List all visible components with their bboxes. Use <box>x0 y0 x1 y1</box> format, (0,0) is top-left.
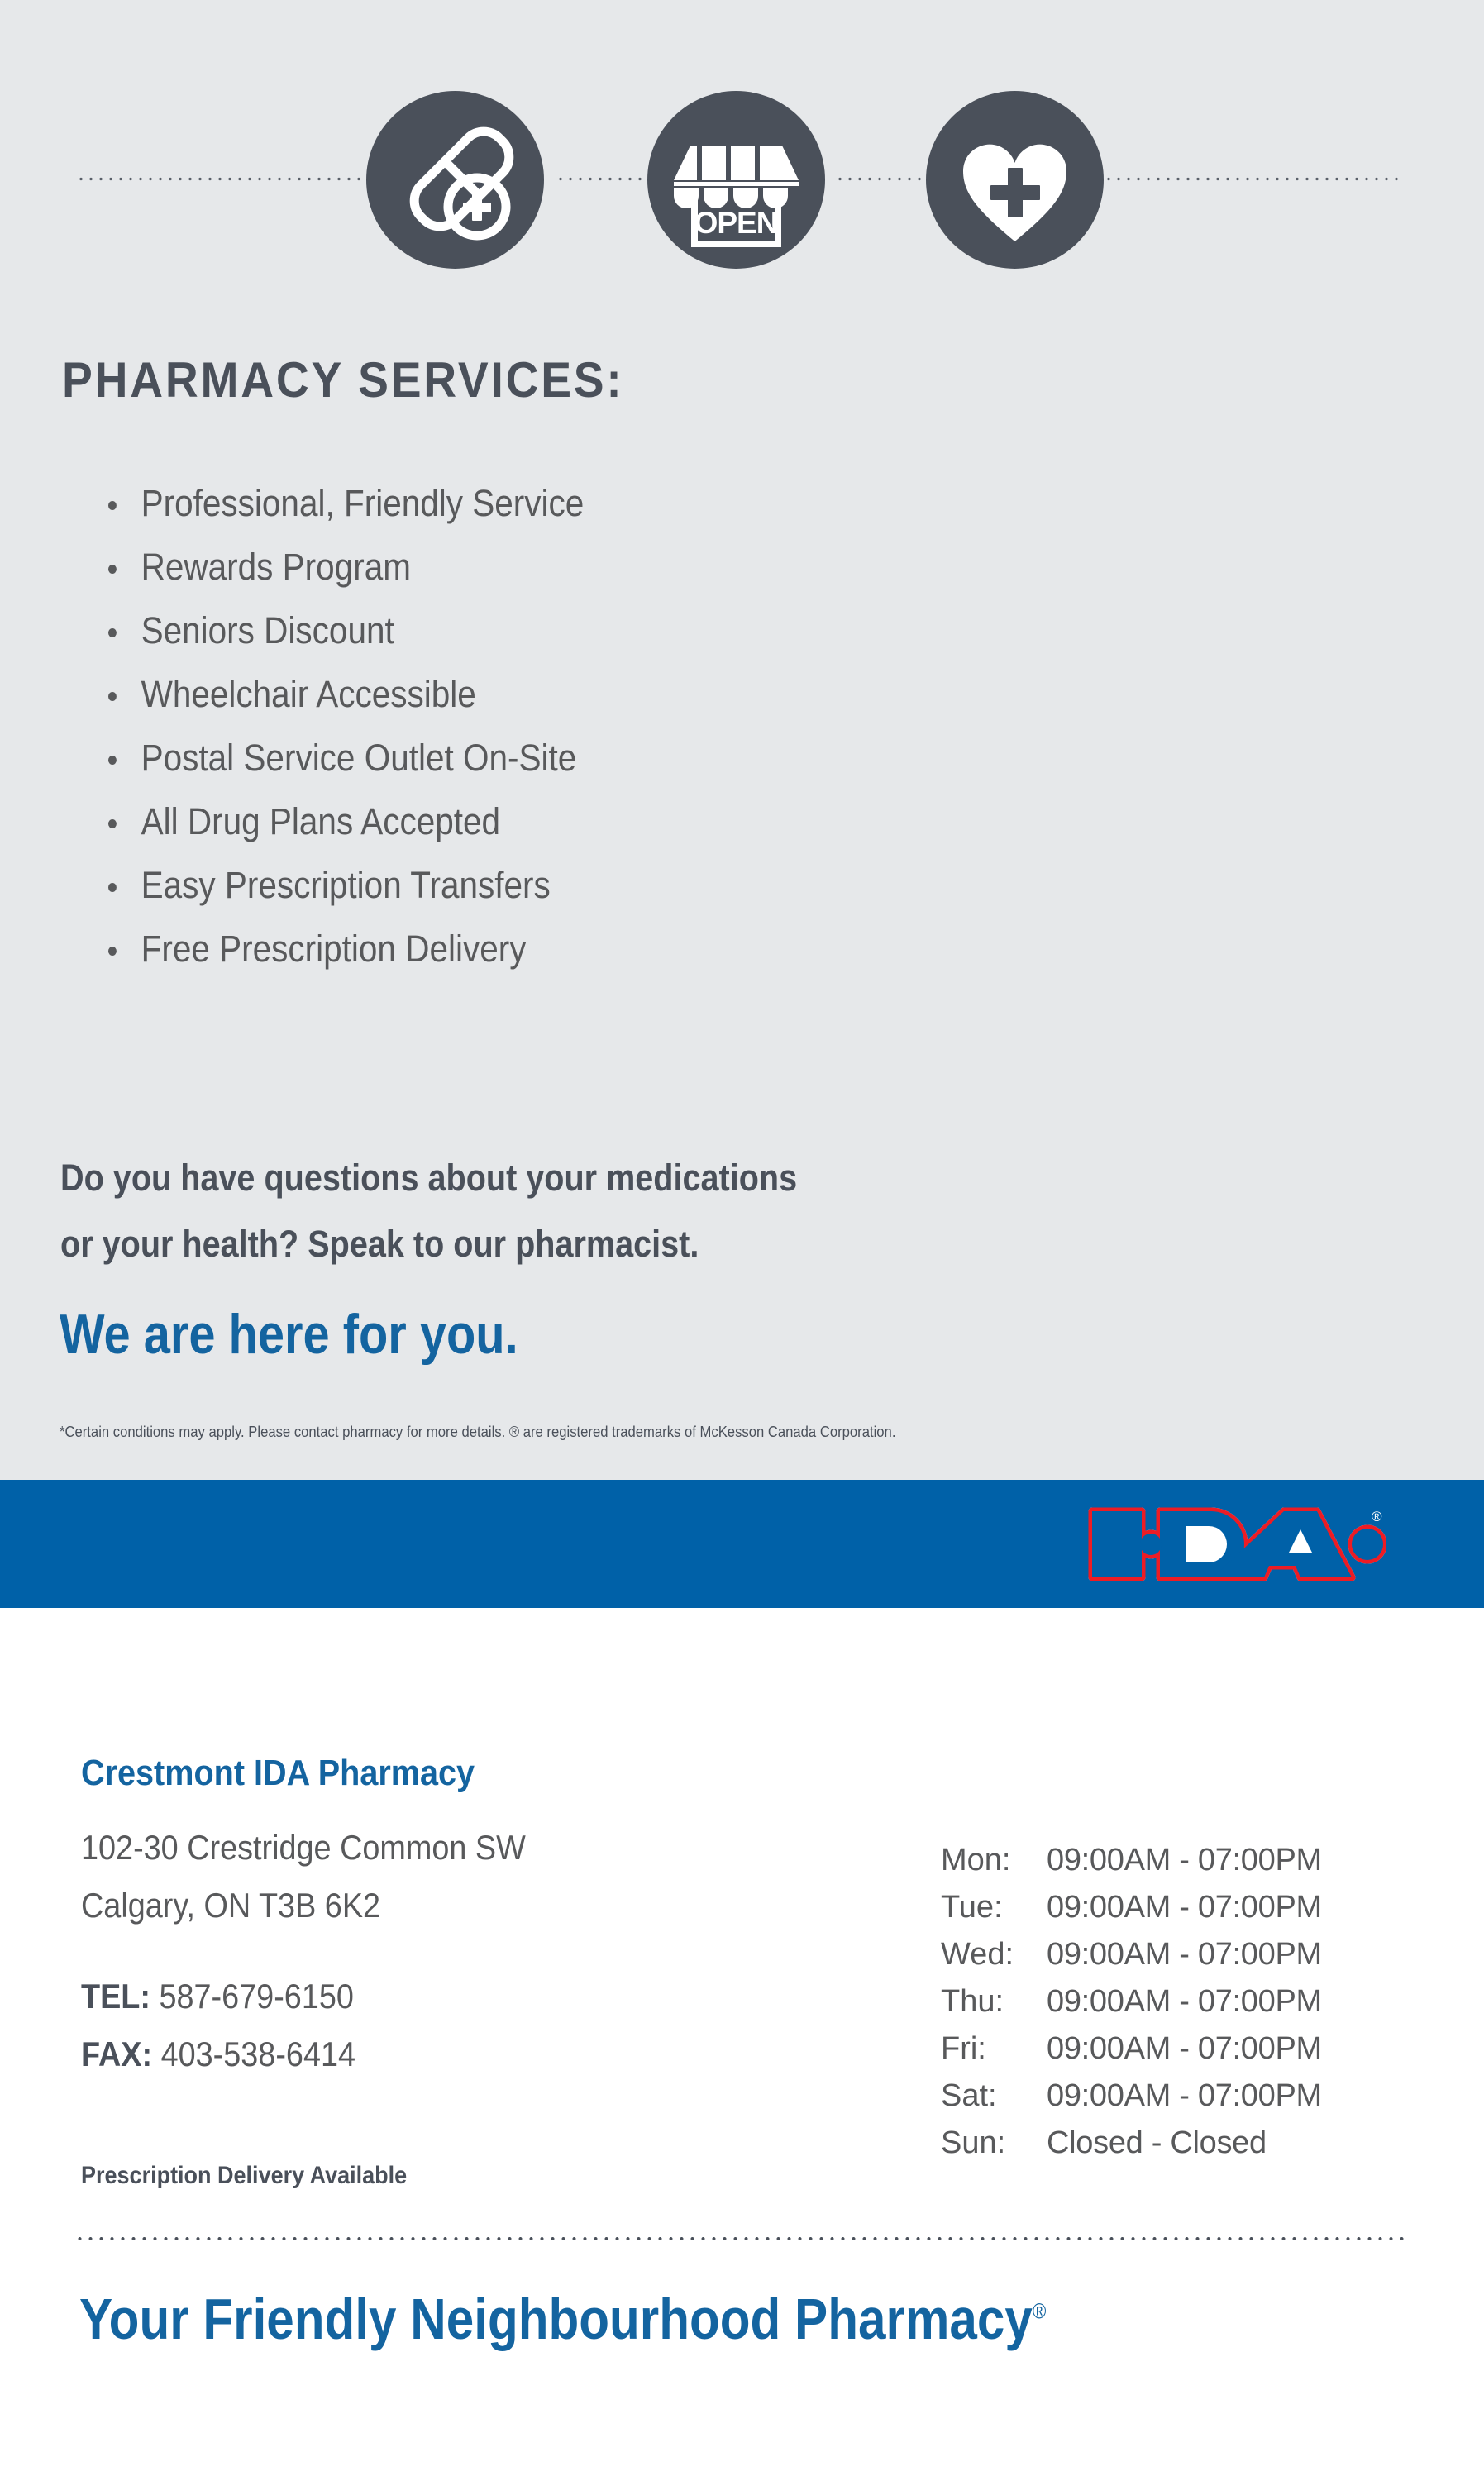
services-list: Professional, Friendly Service Rewards P… <box>101 471 637 980</box>
table-row: Fri: 09:00AM - 07:00PM <box>941 2025 1322 2073</box>
list-item: Seniors Discount <box>101 599 584 662</box>
telephone-value[interactable]: 587-679-6150 <box>159 1977 353 2016</box>
hours-time: 09:00AM - 07:00PM <box>1047 2025 1322 2073</box>
hours-day: Wed: <box>941 1931 1047 1978</box>
fax-row: FAX: 403-538-6414 <box>81 2025 355 2083</box>
list-item: Professional, Friendly Service <box>101 471 584 535</box>
pill-capsule-plus-icon <box>366 91 544 269</box>
storefront-open-icon: OPEN <box>647 91 825 269</box>
table-row: Thu: 09:00AM - 07:00PM <box>941 1978 1322 2025</box>
hours-day: Mon: <box>941 1837 1047 1884</box>
hours-day: Sat: <box>941 2073 1047 2120</box>
pharmacy-flyer: OPEN PHARMACY SERVICES: Professional, Fr… <box>0 0 1484 2476</box>
footer-tagline: Your Friendly Neighbourhood Pharmacy® <box>79 2286 1046 2352</box>
icon-strip: OPEN <box>0 91 1484 265</box>
ida-logo: ® <box>1081 1496 1386 1592</box>
store-contact: TEL: 587-679-6150 FAX: 403-538-6414 <box>81 1968 355 2083</box>
heart-cross-icon <box>926 91 1104 269</box>
telephone-row: TEL: 587-679-6150 <box>81 1968 355 2025</box>
list-item: Easy Prescription Transfers <box>101 853 584 917</box>
brand-band: ® <box>0 1480 1484 1608</box>
questions-line-2: or your health? Speak to our pharmacist. <box>60 1211 797 1277</box>
delivery-note: Prescription Delivery Available <box>81 2162 407 2190</box>
legal-disclaimer: *Certain conditions may apply. Please co… <box>60 1423 895 1441</box>
questions-line-1: Do you have questions about your medicat… <box>60 1145 797 1211</box>
store-address: 102-30 Crestridge Common SW Calgary, ON … <box>81 1819 526 1935</box>
address-line-1: 102-30 Crestridge Common SW <box>81 1819 526 1877</box>
dotted-divider-bottom <box>74 2236 1407 2241</box>
dotted-divider-mid-left <box>556 177 647 181</box>
telephone-label: TEL: <box>81 1977 150 2016</box>
address-line-2: Calgary, ON T3B 6K2 <box>81 1877 526 1935</box>
list-item: Rewards Program <box>101 535 584 599</box>
table-row: Tue: 09:00AM - 07:00PM <box>941 1884 1322 1931</box>
list-item: All Drug Plans Accepted <box>101 790 584 853</box>
footer-tagline-text: Your Friendly Neighbourhood Pharmacy <box>79 2287 1033 2351</box>
svg-text:OPEN: OPEN <box>694 206 778 240</box>
fax-value: 403-538-6414 <box>161 2035 355 2073</box>
here-for-you-tagline: We are here for you. <box>60 1302 518 1367</box>
store-name: Crestmont IDA Pharmacy <box>81 1753 475 1794</box>
svg-text:®: ® <box>1372 1509 1382 1524</box>
fax-label: FAX: <box>81 2035 152 2073</box>
table-row: Wed: 09:00AM - 07:00PM <box>941 1931 1322 1978</box>
hours-day: Thu: <box>941 1978 1047 2025</box>
dotted-divider-right <box>1104 177 1401 181</box>
hours-day: Fri: <box>941 2025 1047 2073</box>
table-row: Sun: Closed - Closed <box>941 2120 1322 2167</box>
registered-mark: ® <box>1033 2299 1046 2324</box>
list-item: Postal Service Outlet On-Site <box>101 726 584 790</box>
hours-day: Sun: <box>941 2120 1047 2167</box>
dotted-divider-mid-right <box>835 177 926 181</box>
table-row: Sat: 09:00AM - 07:00PM <box>941 2073 1322 2120</box>
store-hours-table: Mon: 09:00AM - 07:00PM Tue: 09:00AM - 07… <box>941 1837 1322 2167</box>
hours-time: Closed - Closed <box>1047 2120 1322 2167</box>
questions-block: Do you have questions about your medicat… <box>60 1145 797 1277</box>
hours-time: 09:00AM - 07:00PM <box>1047 1978 1322 2025</box>
hours-time: 09:00AM - 07:00PM <box>1047 2073 1322 2120</box>
hours-time: 09:00AM - 07:00PM <box>1047 1884 1322 1931</box>
hours-time: 09:00AM - 07:00PM <box>1047 1837 1322 1884</box>
hours-time: 09:00AM - 07:00PM <box>1047 1931 1322 1978</box>
list-item: Wheelchair Accessible <box>101 662 584 726</box>
services-panel: OPEN PHARMACY SERVICES: Professional, Fr… <box>0 0 1484 1480</box>
list-item: Free Prescription Delivery <box>101 917 584 980</box>
hours-day: Tue: <box>941 1884 1047 1931</box>
dotted-divider-left <box>76 177 365 181</box>
page-title: PHARMACY SERVICES: <box>62 351 624 408</box>
table-row: Mon: 09:00AM - 07:00PM <box>941 1837 1322 1884</box>
